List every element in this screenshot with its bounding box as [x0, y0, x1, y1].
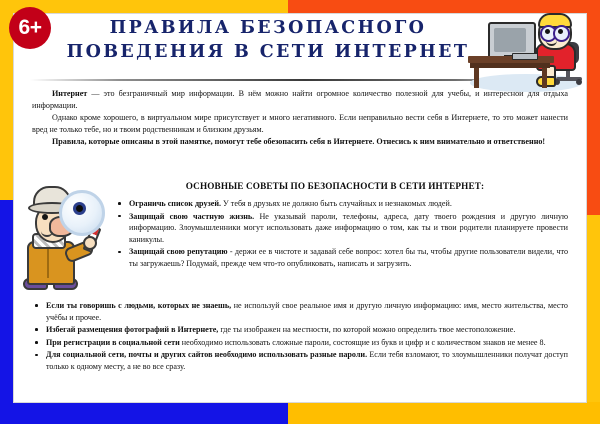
magnified-pupil: [76, 205, 83, 212]
title-line-1: ПРАВИЛА БЕЗОПАСНОГО: [58, 16, 478, 40]
title-divider: [30, 79, 530, 81]
frame-bottom-right-band: [288, 402, 600, 424]
intro-lead-word: Интернет: [52, 89, 87, 98]
detective-hand: [83, 236, 97, 250]
list-item: Ограничь список друзей. У тебя в друзьях…: [115, 198, 568, 210]
bullet-icon: [35, 328, 38, 331]
intro-paragraph-2: Однако кроме хорошего, в виртуальном мир…: [32, 112, 568, 135]
list-item: Защищай свою репутацию - держи ее в чист…: [115, 246, 568, 269]
tip-lead: Если ты говоришь с людьми, которых не зн…: [46, 301, 231, 310]
list-item: Защищай свою частную жизнь. Не указывай …: [115, 211, 568, 246]
desk-top: [468, 56, 554, 63]
boy-left-pupil: [545, 29, 550, 34]
intro-text: Интернет — это безграничный мир информац…: [32, 88, 568, 149]
tip-rest: У тебя в друзьях не должно быть случайны…: [221, 199, 452, 208]
bullet-icon: [35, 354, 38, 357]
advice-heading: ОСНОВНЫЕ СОВЕТЫ ПО БЕЗОПАСНОСТИ В СЕТИ И…: [100, 181, 570, 191]
frame-left-bottom-band: [0, 200, 14, 424]
title-line-2: ПОВЕДЕНИЯ В СЕТИ ИНТЕРНЕТ: [58, 40, 478, 64]
detective-illustration: [19, 186, 111, 298]
tip-lead: При регистрации в социальной сети: [46, 338, 180, 347]
list-item: Избегай размещения фотографий в Интернет…: [32, 324, 568, 336]
tip-lead: Ограничь список друзей.: [129, 199, 221, 208]
list-item: При регистрации в социальной сети необхо…: [32, 337, 568, 349]
tip-lead: Защищай свою частную жизнь.: [129, 212, 254, 221]
detective-coat-seam: [47, 244, 49, 278]
tip-rest: необходимо использовать сложные пароли, …: [180, 338, 546, 347]
intro-paragraph-3: Правила, которые описаны в этой памятке,…: [32, 136, 568, 148]
tip-lead: Для социальной сети, почты и других сайт…: [46, 350, 367, 359]
list-item: Если ты говоришь с людьми, которых не зн…: [32, 300, 568, 323]
boy-at-computer-illustration: [466, 12, 586, 96]
keyboard-icon: [512, 53, 538, 60]
tips-list-indented: Ограничь список друзей. У тебя в друзьях…: [115, 198, 568, 271]
tip-lead: Избегай размещения фотографий в Интернет…: [46, 325, 218, 334]
detective-eye: [42, 214, 48, 220]
boy-right-pupil: [558, 29, 563, 34]
office-chair-wheel-right-icon: [576, 79, 582, 85]
desk-front: [470, 63, 550, 68]
bullet-icon: [118, 202, 121, 205]
bullet-icon: [35, 341, 38, 344]
list-item: Для социальной сети, почты и других сайт…: [32, 349, 568, 372]
safety-poster: 6+ ПРАВИЛА БЕЗОПАСНОГО ПОВЕДЕНИЯ В СЕТИ …: [0, 0, 600, 424]
tips-list-full: Если ты говоришь с людьми, которых не зн…: [32, 300, 568, 374]
age-rating-badge: 6+: [9, 7, 51, 49]
tip-rest: где ты изображен на местности, по которо…: [218, 325, 515, 334]
tip-lead: Защищай свою репутацию: [129, 247, 228, 256]
page-title: ПРАВИЛА БЕЗОПАСНОГО ПОВЕДЕНИЯ В СЕТИ ИНТ…: [58, 16, 478, 64]
frame-right-top-band: [586, 0, 600, 215]
bullet-icon: [35, 304, 38, 307]
bullet-icon: [118, 251, 121, 254]
monitor-screen: [494, 28, 526, 52]
frame-right-bottom-band: [586, 215, 600, 424]
bullet-icon: [118, 215, 121, 218]
frame-bottom-left-band: [0, 402, 288, 424]
